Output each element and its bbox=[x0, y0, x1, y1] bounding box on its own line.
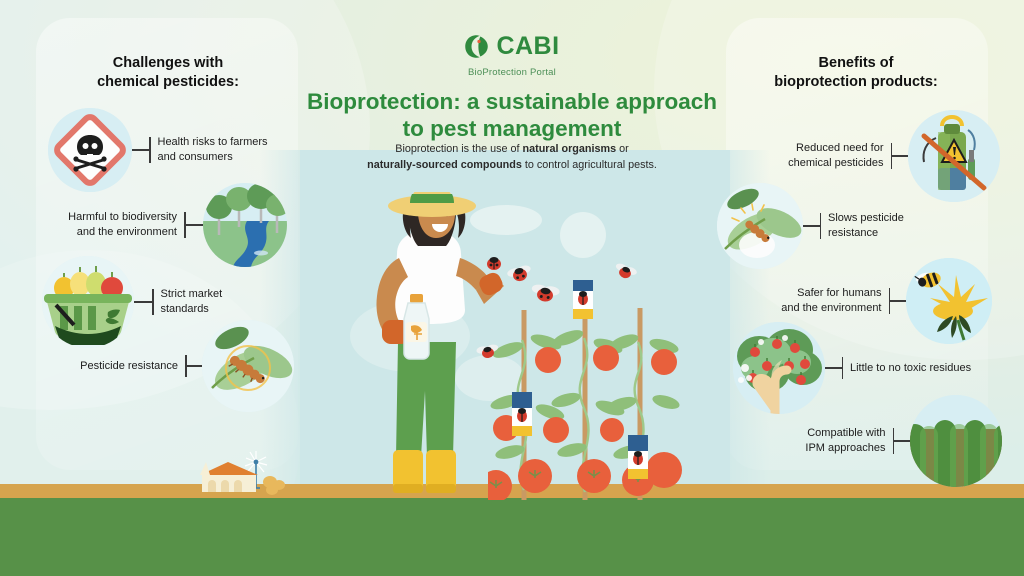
left-item-4-label: Pesticide resistance bbox=[70, 359, 178, 374]
connector-line bbox=[132, 137, 151, 163]
connector-line bbox=[893, 428, 911, 454]
right-item-2-label: Slows pesticide resistance bbox=[828, 211, 924, 240]
brand-name: CABI bbox=[496, 34, 559, 59]
left-item-3-label: Strict market standards bbox=[161, 287, 271, 316]
subtitle-emph-1: natural organisms bbox=[523, 143, 617, 155]
left-item-4[interactable]: Pesticide resistance bbox=[70, 320, 294, 412]
connector-line bbox=[891, 143, 909, 169]
left-item-2-label: Harmful to biodiversity and the environm… bbox=[52, 210, 177, 239]
cloud-2 bbox=[560, 212, 606, 258]
connector-line bbox=[184, 212, 203, 238]
subtitle-part-a: Bioprotection is the use of bbox=[395, 143, 522, 155]
forest-river-icon bbox=[203, 183, 287, 267]
title-line-2: to pest management bbox=[403, 116, 622, 141]
page-subtitle: Bioprotection is the use of natural orga… bbox=[312, 142, 712, 173]
right-item-1-label: Reduced need for chemical pesticides bbox=[774, 141, 884, 170]
skull-hazard-icon bbox=[48, 108, 132, 192]
subtitle-part-e: to control agricultural pests. bbox=[522, 159, 657, 171]
caterpillar-leaf-icon bbox=[202, 320, 294, 412]
right-column-heading: Benefits of bioprotection products: bbox=[736, 54, 976, 92]
page-title: Bioprotection: a sustainable approach to… bbox=[277, 88, 747, 143]
subtitle-part-c: or bbox=[616, 143, 629, 155]
left-item-2[interactable]: Harmful to biodiversity and the environm… bbox=[52, 183, 287, 267]
title-line-1: Bioprotection: a sustainable approach bbox=[307, 89, 717, 114]
connector-line bbox=[889, 288, 907, 314]
infographic-canvas: CABI BioProtection Portal Bioprotection:… bbox=[0, 0, 1024, 576]
farmer-with-bottle-and-ladybug bbox=[352, 192, 517, 502]
right-item-4-label: Little to no toxic residues bbox=[850, 361, 986, 376]
connector-line bbox=[185, 355, 202, 377]
right-item-2[interactable]: Slows pesticide resistance bbox=[717, 183, 925, 269]
subtitle-emph-2: naturally-sourced compounds bbox=[367, 159, 522, 171]
left-item-1-label: Health risks to farmers and consumers bbox=[158, 135, 278, 164]
crop-rows-icon bbox=[910, 395, 1002, 487]
grass-field bbox=[0, 498, 1024, 576]
left-column-heading: Challenges with chemical pesticides: bbox=[48, 54, 288, 92]
right-item-3-label: Safer for humans and the environment bbox=[772, 286, 882, 315]
left-item-1[interactable]: Health risks to farmers and consumers bbox=[48, 108, 278, 192]
connector-line bbox=[134, 289, 154, 315]
right-item-5-label: Compatible with IPM approaches bbox=[786, 426, 886, 455]
connector-line bbox=[825, 357, 844, 379]
right-item-5[interactable]: Compatible with IPM approaches bbox=[786, 395, 1003, 487]
farmhouse-windmill-haybales bbox=[180, 444, 300, 500]
connector-line bbox=[803, 213, 822, 239]
cabi-leaf-logo-icon bbox=[464, 34, 489, 59]
leaf-pest-icon bbox=[717, 183, 803, 269]
